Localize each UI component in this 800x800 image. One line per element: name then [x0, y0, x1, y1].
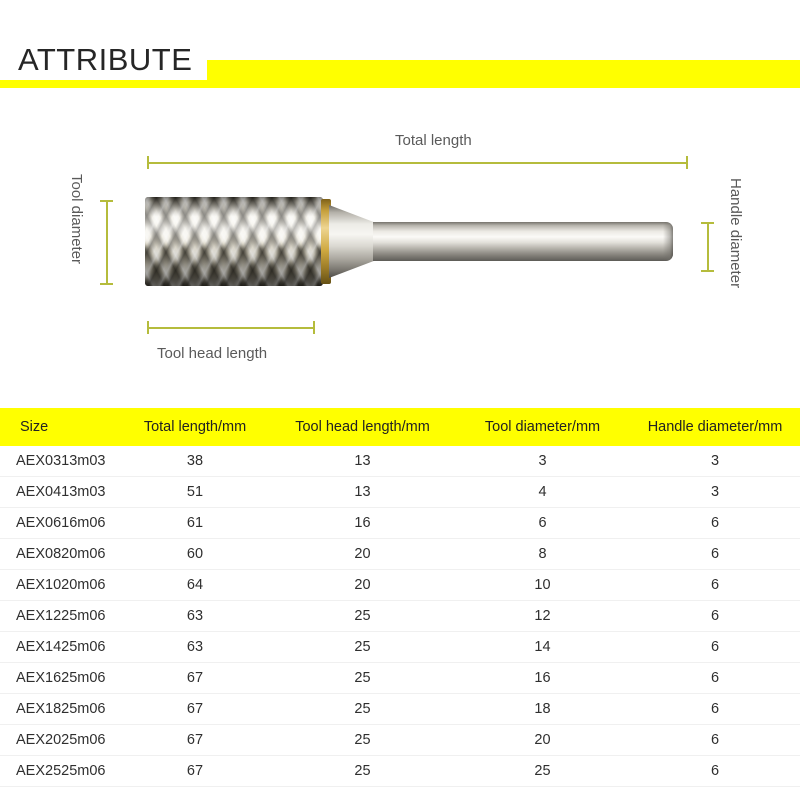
cell-tool-head-length: 25 — [270, 601, 455, 632]
dimension-rule — [707, 222, 709, 272]
cell-tool-head-length: 13 — [270, 446, 455, 477]
handle-diameter-label: Handle diameter — [727, 178, 744, 288]
cell-handle-diameter: 3 — [630, 477, 800, 508]
table-row: AEX2025m066725206 — [0, 725, 800, 756]
cell-total-length: 38 — [120, 446, 270, 477]
specifications-table: Size Total length/mm Tool head length/mm… — [0, 408, 800, 787]
page-header: ATTRIBUTE — [0, 0, 800, 96]
shank-end-cap — [663, 222, 673, 261]
dimension-cap-right — [686, 156, 688, 169]
carbide-burr-illustration — [137, 192, 689, 292]
cell-total-length: 67 — [120, 694, 270, 725]
table-row: AEX1225m066325126 — [0, 601, 800, 632]
cell-size: AEX0616m06 — [0, 508, 120, 539]
tool-diameter-label: Tool diameter — [68, 174, 85, 264]
dimension-rule — [147, 162, 688, 164]
cell-handle-diameter: 6 — [630, 725, 800, 756]
dimension-cap-bottom — [701, 270, 714, 272]
burr-head — [145, 197, 323, 286]
cell-tool-diameter: 20 — [455, 725, 630, 756]
dimension-rule — [106, 200, 108, 285]
cell-tool-head-length: 25 — [270, 663, 455, 694]
cell-handle-diameter: 6 — [630, 570, 800, 601]
cell-tool-diameter: 6 — [455, 508, 630, 539]
cell-tool-head-length: 25 — [270, 725, 455, 756]
cell-tool-diameter: 16 — [455, 663, 630, 694]
cell-tool-diameter: 12 — [455, 601, 630, 632]
table-row: AEX1425m066325146 — [0, 632, 800, 663]
cell-size: AEX2025m06 — [0, 725, 120, 756]
cell-total-length: 63 — [120, 632, 270, 663]
cell-tool-head-length: 25 — [270, 756, 455, 787]
table-row: AEX0313m03381333 — [0, 446, 800, 477]
dimension-cap-right — [313, 321, 315, 334]
cell-total-length: 67 — [120, 756, 270, 787]
total-length-dimension-line — [147, 156, 688, 169]
table-body: AEX0313m03381333AEX0413m03511343AEX0616m… — [0, 446, 800, 787]
cell-handle-diameter: 6 — [630, 663, 800, 694]
column-header-handle-diameter: Handle diameter/mm — [630, 408, 800, 446]
cell-total-length: 51 — [120, 477, 270, 508]
shank-taper — [329, 205, 375, 278]
dimension-cap-bottom — [100, 283, 113, 285]
column-header-tool-diameter: Tool diameter/mm — [455, 408, 630, 446]
table-row: AEX0413m03511343 — [0, 477, 800, 508]
column-header-tool-head-length: Tool head length/mm — [270, 408, 455, 446]
cell-tool-head-length: 16 — [270, 508, 455, 539]
table-row: AEX2525m066725256 — [0, 756, 800, 787]
cell-tool-diameter: 14 — [455, 632, 630, 663]
cell-tool-diameter: 4 — [455, 477, 630, 508]
cell-total-length: 67 — [120, 663, 270, 694]
handle-diameter-dimension-line — [701, 222, 714, 272]
cell-tool-diameter: 10 — [455, 570, 630, 601]
table-header-row: Size Total length/mm Tool head length/mm… — [0, 408, 800, 446]
cell-tool-diameter: 3 — [455, 446, 630, 477]
tool-head-length-label: Tool head length — [157, 345, 267, 362]
total-length-label: Total length — [395, 132, 472, 149]
cell-handle-diameter: 6 — [630, 539, 800, 570]
cell-handle-diameter: 3 — [630, 446, 800, 477]
cylinder-shading — [145, 197, 323, 286]
cell-tool-head-length: 20 — [270, 539, 455, 570]
dimension-rule — [147, 327, 315, 329]
table-row: AEX0616m06611666 — [0, 508, 800, 539]
cell-size: AEX1225m06 — [0, 601, 120, 632]
tool-shank — [373, 222, 673, 261]
cell-total-length: 61 — [120, 508, 270, 539]
cell-tool-head-length: 25 — [270, 632, 455, 663]
cell-handle-diameter: 6 — [630, 601, 800, 632]
cell-size: AEX1425m06 — [0, 632, 120, 663]
header-accent-bar — [207, 60, 800, 88]
table-row: AEX1020m066420106 — [0, 570, 800, 601]
cell-size: AEX0820m06 — [0, 539, 120, 570]
page-title: ATTRIBUTE — [18, 42, 200, 80]
tool-diameter-dimension-line — [100, 200, 113, 285]
cell-handle-diameter: 6 — [630, 756, 800, 787]
table-row: AEX1625m066725166 — [0, 663, 800, 694]
tool-head-length-dimension-line — [147, 321, 315, 334]
cell-size: AEX2525m06 — [0, 756, 120, 787]
cell-size: AEX0313m03 — [0, 446, 120, 477]
cell-total-length: 67 — [120, 725, 270, 756]
product-diagram: Total length Tool diameter Handle diamet… — [0, 96, 800, 401]
cell-handle-diameter: 6 — [630, 632, 800, 663]
cell-size: AEX1825m06 — [0, 694, 120, 725]
table-row: AEX0820m06602086 — [0, 539, 800, 570]
cell-tool-diameter: 8 — [455, 539, 630, 570]
cell-handle-diameter: 6 — [630, 694, 800, 725]
cell-total-length: 64 — [120, 570, 270, 601]
cell-tool-head-length: 13 — [270, 477, 455, 508]
table-row: AEX1825m066725186 — [0, 694, 800, 725]
cell-size: AEX0413m03 — [0, 477, 120, 508]
cell-total-length: 63 — [120, 601, 270, 632]
column-header-total-length: Total length/mm — [120, 408, 270, 446]
cell-tool-diameter: 18 — [455, 694, 630, 725]
cell-size: AEX1020m06 — [0, 570, 120, 601]
cell-tool-head-length: 25 — [270, 694, 455, 725]
cell-handle-diameter: 6 — [630, 508, 800, 539]
column-header-size: Size — [0, 408, 120, 446]
cell-size: AEX1625m06 — [0, 663, 120, 694]
cell-total-length: 60 — [120, 539, 270, 570]
cell-tool-head-length: 20 — [270, 570, 455, 601]
cell-tool-diameter: 25 — [455, 756, 630, 787]
